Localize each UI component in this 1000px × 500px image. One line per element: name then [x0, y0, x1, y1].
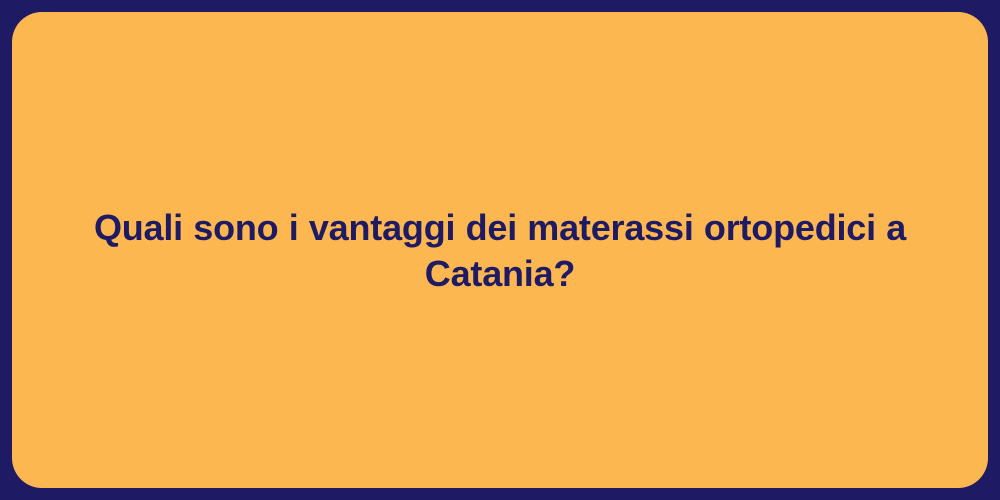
question-card: Quali sono i vantaggi dei materassi orto…	[12, 12, 988, 488]
screenshot-canvas: Quali sono i vantaggi dei materassi orto…	[0, 0, 1000, 500]
question-heading: Quali sono i vantaggi dei materassi orto…	[12, 205, 988, 297]
